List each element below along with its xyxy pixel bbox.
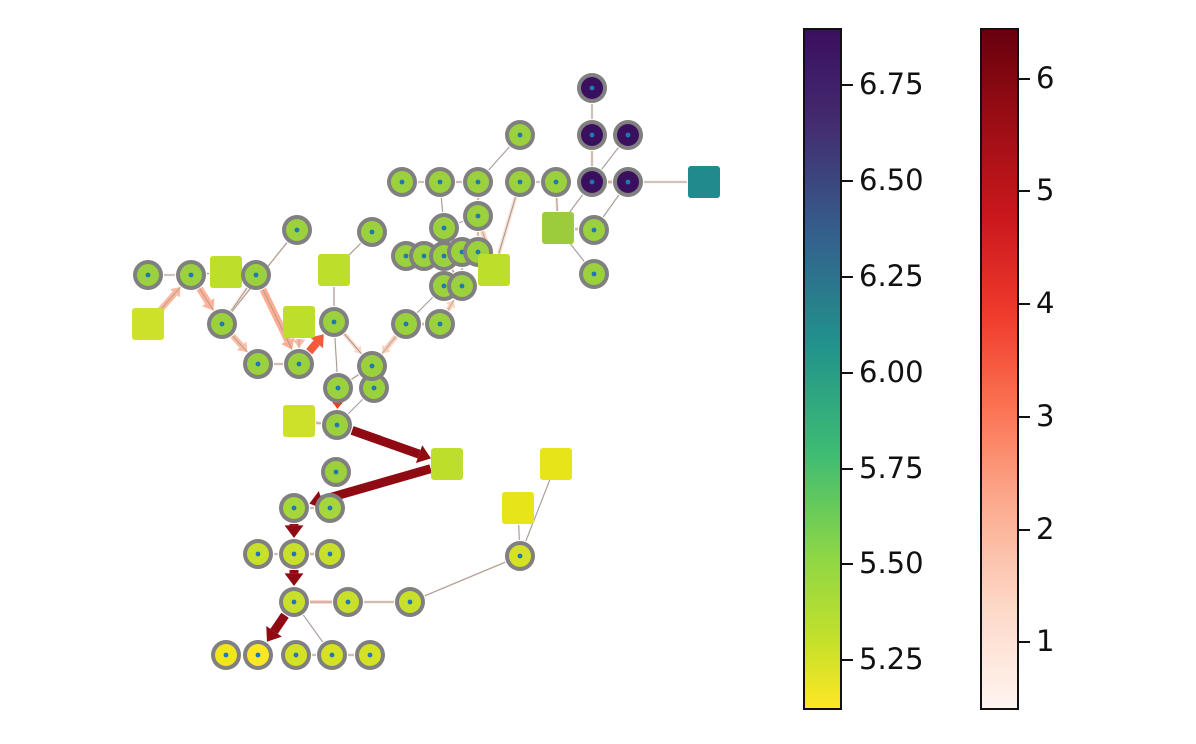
colorbar-tick-mark (1019, 529, 1030, 531)
colorbar-tick-mark (1019, 303, 1030, 305)
node-center-dot (254, 273, 259, 278)
node-center-dot (330, 653, 335, 658)
node-center-dot (590, 133, 595, 138)
node-center-dot (460, 284, 465, 289)
graph-node-circle[interactable] (357, 351, 387, 381)
node-center-dot (332, 320, 337, 325)
node-center-dot (297, 362, 302, 367)
node-center-dot (592, 228, 597, 233)
node-center-dot (328, 552, 333, 557)
graph-node-circle[interactable] (387, 167, 417, 197)
colorbar-tick-label: 2 (1036, 515, 1054, 544)
colorbar-tick-mark (1019, 416, 1030, 418)
node-center-dot (370, 230, 375, 235)
node-center-dot (442, 226, 447, 231)
node-center-dot (292, 552, 297, 557)
graph-node-circle[interactable] (505, 120, 535, 150)
figure-canvas: 6.756.506.256.005.755.505.25 654321 (0, 0, 1196, 744)
node-center-dot (590, 86, 595, 91)
graph-node-circle[interactable] (315, 539, 345, 569)
edge-arrowhead (285, 573, 304, 586)
colorbar-tick-mark (1019, 190, 1030, 192)
node-square-body (540, 448, 572, 480)
node-center-dot (442, 254, 447, 259)
colorbar-tick-mark (1019, 641, 1030, 643)
colorbar-tick-label: 4 (1036, 289, 1054, 318)
graph-node-circle[interactable] (447, 271, 477, 301)
graph-edge-guide (557, 198, 558, 211)
graph-node-circle[interactable] (317, 640, 347, 670)
edge-colorbar: 654321 (980, 28, 1100, 710)
node-center-dot (224, 653, 229, 658)
graph-node-circle[interactable] (322, 410, 352, 440)
colorbar-tick-label: 1 (1036, 627, 1054, 656)
node-square-body (478, 254, 510, 286)
node-center-dot (400, 180, 405, 185)
colorbar-tick-mark (842, 468, 853, 470)
graph-node-circle[interactable] (243, 640, 273, 670)
graph-node-circle[interactable] (613, 167, 643, 197)
node-center-dot (554, 180, 559, 185)
graph-node-square[interactable] (210, 256, 242, 288)
colorbar-tick-mark (842, 659, 853, 661)
node-square-body (431, 448, 463, 480)
graph-edge-guide (159, 287, 180, 311)
graph-node-circle[interactable] (355, 640, 385, 670)
node-center-dot (295, 228, 300, 233)
node-center-dot (626, 133, 631, 138)
node-center-dot (292, 506, 297, 511)
graph-edge-guide (417, 297, 432, 312)
graph-node-circle[interactable] (391, 309, 421, 339)
colorbar-tick-label: 5.25 (859, 645, 924, 674)
node-center-dot (518, 180, 523, 185)
graph-node-square[interactable] (283, 306, 315, 338)
edge-arrowhead (285, 525, 304, 538)
node-center-dot (294, 653, 299, 658)
graph-edge-guide (568, 195, 582, 214)
node-center-dot (146, 273, 151, 278)
node-center-dot (438, 180, 443, 185)
node-center-dot (346, 600, 351, 605)
node-center-dot (336, 386, 341, 391)
node-center-dot (590, 180, 595, 185)
graph-edge (352, 430, 419, 454)
colorbar-tick-mark (842, 180, 853, 182)
node-square-body (502, 492, 534, 524)
node-square-body (688, 166, 720, 198)
graph-node-circle[interactable] (133, 260, 163, 290)
graph-node-circle[interactable] (429, 213, 459, 243)
node-center-dot (592, 272, 597, 277)
graph-edge (309, 343, 316, 352)
graph-node-circle[interactable] (282, 215, 312, 245)
node-square-body (283, 405, 315, 437)
node-center-dot (372, 386, 377, 391)
graph-edge-guide (348, 399, 362, 413)
graph-edge-guide (425, 562, 505, 596)
graph-node-circle[interactable] (211, 640, 241, 670)
node-center-dot (220, 322, 225, 327)
node-center-dot (422, 254, 427, 259)
graph-node-circle[interactable] (279, 493, 309, 523)
colorbar-tick-label: 6 (1036, 64, 1054, 93)
graph-node-circle[interactable] (279, 587, 309, 617)
node-center-dot (626, 180, 631, 185)
graph-node-circle[interactable] (579, 215, 609, 245)
graph-edge (274, 615, 285, 631)
node-center-dot (334, 470, 339, 475)
graph-node-circle[interactable] (243, 539, 273, 569)
node-square-body (210, 256, 242, 288)
node-center-dot (476, 180, 481, 185)
node-center-dot (438, 322, 443, 327)
colorbar-tick-label: 3 (1036, 402, 1054, 431)
colorbar-tick-mark (842, 563, 853, 565)
colorbar-tick-mark (842, 372, 853, 374)
colorbar-tick-mark (842, 84, 853, 86)
graph-edge-guide (603, 195, 619, 217)
graph-node-square[interactable] (542, 212, 574, 244)
node-center-dot (256, 362, 261, 367)
graph-node-circle[interactable] (321, 457, 351, 487)
graph-node-circle[interactable] (279, 539, 309, 569)
graph-node-square[interactable] (318, 254, 350, 286)
graph-node-circle[interactable] (505, 167, 535, 197)
graph-node-circle[interactable] (207, 309, 237, 339)
edge-colorbar-gradient (980, 28, 1019, 710)
graph-node-circle[interactable] (463, 201, 493, 231)
graph-edge-guide (499, 197, 516, 253)
node-center-dot (335, 423, 340, 428)
node-center-dot (292, 600, 297, 605)
graph-edge-guide (568, 241, 584, 261)
node-center-dot (518, 554, 523, 559)
node-center-dot (408, 600, 413, 605)
node-center-dot (442, 284, 447, 289)
node-square-body (283, 306, 315, 338)
graph-node-square[interactable] (431, 448, 463, 480)
graph-node-circle[interactable] (284, 349, 314, 379)
colorbar-tick-label: 5.75 (859, 454, 924, 483)
graph-node-square[interactable] (540, 448, 572, 480)
graph-node-circle[interactable] (425, 309, 455, 339)
colorbar-tick-label: 6.75 (859, 70, 924, 99)
node-layer (132, 73, 720, 670)
graph-node-square[interactable] (478, 254, 510, 286)
node-square-body (542, 212, 574, 244)
graph-node-circle[interactable] (333, 587, 363, 617)
node-center-dot (518, 133, 523, 138)
colorbar-tick-label: 5.50 (859, 549, 924, 578)
node-center-dot (368, 653, 373, 658)
graph-edge-guide (489, 147, 510, 170)
graph-node-circle[interactable] (613, 120, 643, 150)
graph-node-square[interactable] (283, 405, 315, 437)
node-center-dot (476, 250, 481, 255)
colorbar-tick-label: 5 (1036, 176, 1054, 205)
node-center-dot (404, 322, 409, 327)
node-colorbar-gradient (803, 28, 842, 710)
graph-node-square[interactable] (132, 308, 164, 340)
graph-node-circle[interactable] (281, 640, 311, 670)
graph-edge-guide (303, 615, 322, 642)
graph-node-circle[interactable] (577, 73, 607, 103)
node-square-body (132, 308, 164, 340)
colorbar-tick-label: 6.50 (859, 166, 924, 195)
graph-node-circle[interactable] (319, 307, 349, 337)
graph-node-circle[interactable] (425, 167, 455, 197)
node-center-dot (256, 653, 261, 658)
node-center-dot (476, 214, 481, 219)
graph-node-circle[interactable] (541, 167, 571, 197)
colorbar-tick-mark (1019, 78, 1030, 80)
colorbar-tick-label: 6.00 (859, 358, 924, 387)
graph-edge-guide (519, 525, 520, 540)
node-center-dot (404, 254, 409, 259)
graph-node-circle[interactable] (243, 349, 273, 379)
graph-node-circle[interactable] (505, 541, 535, 571)
graph-node-circle[interactable] (395, 587, 425, 617)
graph-edge-guide (316, 423, 321, 424)
graph-node-circle[interactable] (463, 167, 493, 197)
graph-node-circle[interactable] (323, 373, 353, 403)
graph-node-circle[interactable] (577, 120, 607, 150)
node-square-body (318, 254, 350, 286)
graph-node-circle[interactable] (315, 493, 345, 523)
node-center-dot (370, 364, 375, 369)
graph-edge-guide (231, 288, 247, 311)
graph-edge-guide (344, 334, 361, 354)
graph-node-circle[interactable] (579, 259, 609, 289)
graph-node-square[interactable] (688, 166, 720, 198)
colorbar-tick-label: 6.25 (859, 262, 924, 291)
node-colorbar: 6.756.506.256.005.755.505.25 (803, 28, 933, 710)
graph-edge-guide (602, 148, 619, 170)
node-center-dot (256, 552, 261, 557)
graph-node-circle[interactable] (241, 260, 271, 290)
graph-node-circle[interactable] (176, 260, 206, 290)
node-center-dot (189, 273, 194, 278)
graph-node-circle[interactable] (357, 217, 387, 247)
edge-layer (159, 104, 687, 655)
graph-node-circle[interactable] (577, 167, 607, 197)
node-center-dot (328, 506, 333, 511)
colorbar-tick-mark (842, 276, 853, 278)
graph-node-square[interactable] (502, 492, 534, 524)
